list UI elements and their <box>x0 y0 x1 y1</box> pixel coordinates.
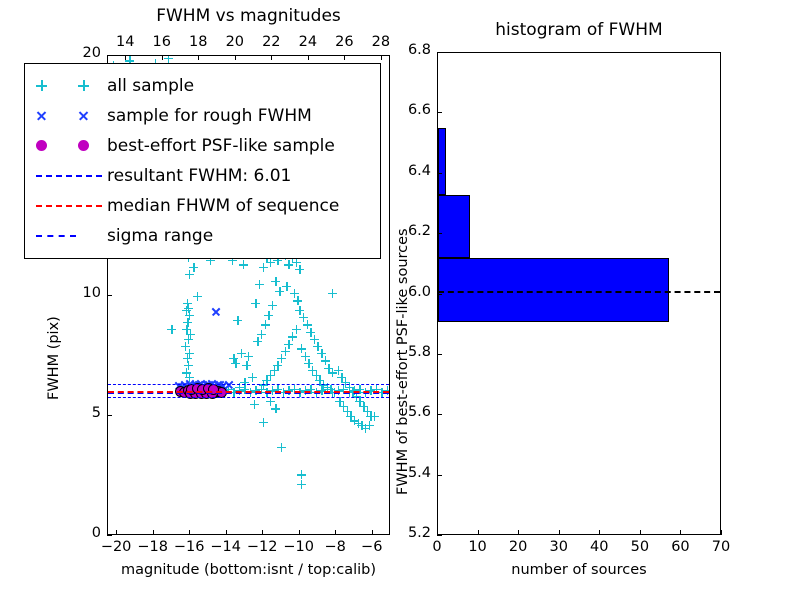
data-point <box>301 352 310 361</box>
legend-item-rough-sample: sample for rough FWHM <box>33 101 370 131</box>
data-point <box>268 386 277 395</box>
data-point <box>341 378 350 387</box>
data-point <box>251 386 260 395</box>
data-point <box>183 354 192 363</box>
data-point <box>304 359 313 368</box>
data-point <box>323 383 332 392</box>
data-point <box>366 412 375 421</box>
axis-tick-label: 6.8 <box>395 42 431 58</box>
right-data-layer <box>438 53 720 534</box>
axis-tick <box>437 535 442 536</box>
axis-tick-label: 50 <box>624 539 656 555</box>
left-yaxis-label: FWHM (pix) <box>46 316 62 400</box>
data-point <box>196 379 206 389</box>
right-xaxis-label: number of sources <box>437 562 721 578</box>
data-point <box>229 388 238 397</box>
data-point <box>334 366 343 375</box>
axis-tick <box>437 475 442 476</box>
figure-canvas: FWHM vs magnitudes −20−18−16−14−12−10−8−… <box>0 0 800 600</box>
x-marker-icon <box>33 105 107 127</box>
dot-marker-icon <box>33 135 107 157</box>
legend-item-sigma-range: sigma range <box>33 221 370 251</box>
data-point <box>345 383 354 392</box>
data-point <box>317 386 326 395</box>
axis-tick-label: 18 <box>182 34 214 50</box>
data-point <box>262 388 271 397</box>
legend-item-all-sample: all sample <box>33 71 370 101</box>
data-point <box>270 366 279 375</box>
axis-tick <box>189 530 190 535</box>
data-point <box>350 416 359 425</box>
data-point <box>181 342 190 351</box>
data-point <box>196 388 207 399</box>
data-point <box>240 385 249 394</box>
data-point <box>197 388 206 397</box>
data-point <box>279 388 288 397</box>
data-point <box>208 385 217 394</box>
data-point <box>239 260 248 269</box>
data-point <box>266 397 275 406</box>
axis-tick-label: 70 <box>705 539 737 555</box>
axis-tick <box>599 530 600 535</box>
sigma-lower-line <box>108 397 389 398</box>
data-point <box>370 412 379 421</box>
data-point <box>319 380 328 389</box>
axis-tick-label: 22 <box>255 34 287 50</box>
data-point <box>297 344 306 353</box>
data-point <box>301 386 310 395</box>
data-point <box>202 386 211 395</box>
legend-label: resultant FWHM: 6.01 <box>107 166 291 186</box>
data-point <box>297 470 306 479</box>
legend-item-median-fwhm: median FHWM of sequence <box>33 191 370 221</box>
data-point <box>268 301 277 310</box>
axis-tick-label: 5.2 <box>395 525 431 541</box>
data-point <box>253 337 262 346</box>
data-point <box>264 311 273 320</box>
data-point <box>240 378 249 387</box>
data-point <box>250 400 259 409</box>
data-point <box>348 388 357 397</box>
legend-label: median FHWM of sequence <box>107 196 339 216</box>
data-point <box>277 354 286 363</box>
data-point <box>290 385 299 394</box>
data-point <box>237 349 246 358</box>
data-point <box>335 397 344 406</box>
data-point <box>180 385 189 394</box>
data-point <box>185 349 194 358</box>
data-point <box>281 347 290 356</box>
data-point <box>184 304 193 313</box>
axis-tick <box>559 530 560 535</box>
data-point <box>186 387 197 398</box>
data-point <box>231 359 240 368</box>
histogram-bar <box>438 258 669 321</box>
axis-tick <box>116 530 117 535</box>
axis-tick-label: 6.6 <box>395 102 431 118</box>
data-point <box>261 320 270 329</box>
data-point <box>310 335 319 344</box>
axis-tick <box>721 530 722 535</box>
data-point <box>328 289 337 298</box>
data-point <box>233 316 242 325</box>
dashed-red-line-icon <box>33 195 107 217</box>
data-point <box>213 388 222 397</box>
data-point <box>208 384 219 395</box>
axis-tick <box>518 530 519 535</box>
data-point <box>308 366 317 375</box>
data-point <box>177 382 187 392</box>
data-point <box>292 325 301 334</box>
data-point <box>175 386 186 397</box>
data-point <box>275 287 284 296</box>
data-point <box>182 306 191 315</box>
data-point <box>185 379 195 389</box>
data-point <box>293 296 302 305</box>
data-point <box>190 388 201 399</box>
axis-tick-label: 30 <box>543 539 575 555</box>
axis-tick <box>262 530 263 535</box>
axis-tick <box>271 55 272 60</box>
data-point <box>297 480 306 489</box>
data-point <box>191 380 201 390</box>
data-point <box>201 388 212 399</box>
data-point <box>191 386 202 397</box>
data-point <box>242 361 251 370</box>
axis-tick-label: −18 <box>137 539 169 555</box>
data-point <box>292 258 301 267</box>
data-point <box>197 384 208 395</box>
axis-tick <box>437 52 442 53</box>
data-point <box>266 258 275 267</box>
axis-tick-label: −20 <box>100 539 132 555</box>
data-point <box>194 387 205 398</box>
axis-tick <box>437 294 442 295</box>
axis-tick <box>162 55 163 60</box>
axis-tick-label: 6.4 <box>395 163 431 179</box>
axis-tick-label: −14 <box>210 539 242 555</box>
axis-tick-label: 24 <box>292 34 324 50</box>
data-point <box>244 352 253 361</box>
axis-tick-label: 16 <box>146 34 178 50</box>
data-point <box>355 385 364 394</box>
axis-tick <box>107 295 112 296</box>
data-point <box>186 380 196 390</box>
axis-tick-label: −12 <box>246 539 278 555</box>
data-point <box>229 354 238 363</box>
data-point <box>207 379 217 389</box>
axis-tick-label: −6 <box>356 539 388 555</box>
data-point <box>359 402 368 411</box>
axis-tick-label: 20 <box>502 539 534 555</box>
axis-tick-label: 20 <box>219 34 251 50</box>
data-point <box>321 356 330 365</box>
data-point <box>174 381 184 391</box>
axis-tick <box>235 55 236 60</box>
data-point <box>180 380 190 390</box>
histogram-bar <box>438 195 470 258</box>
data-point <box>372 385 381 394</box>
data-point <box>339 402 348 411</box>
data-point <box>306 385 315 394</box>
data-point <box>218 381 228 391</box>
data-point <box>273 385 282 394</box>
axis-tick <box>478 530 479 535</box>
axis-tick <box>335 530 336 535</box>
data-point <box>295 306 304 315</box>
data-point <box>346 412 355 421</box>
legend-label: sample for rough FWHM <box>107 106 312 126</box>
data-point <box>192 383 203 394</box>
legend-item-psf-sample: best-effort PSF-like sample <box>33 131 370 161</box>
data-point <box>350 386 359 395</box>
sigma-upper-line <box>108 384 389 385</box>
data-point <box>194 380 204 390</box>
axis-tick <box>299 530 300 535</box>
data-point <box>361 388 370 397</box>
axis-tick-label: 20 <box>67 45 101 61</box>
data-point <box>191 385 200 394</box>
data-point <box>183 318 192 327</box>
data-point <box>337 373 346 382</box>
data-point <box>199 387 210 398</box>
data-point <box>383 386 389 395</box>
data-point <box>184 335 193 344</box>
data-point <box>303 320 312 329</box>
data-point <box>328 368 337 377</box>
data-point <box>271 277 280 286</box>
data-point <box>273 361 282 370</box>
axis-tick <box>437 112 442 113</box>
histogram-bar <box>438 128 446 194</box>
data-point <box>184 361 193 370</box>
axis-tick <box>226 530 227 535</box>
data-point <box>284 260 293 269</box>
data-point <box>277 443 286 452</box>
data-point <box>284 386 293 395</box>
data-point <box>259 380 268 389</box>
data-point <box>183 299 192 308</box>
axis-tick-label: −8 <box>319 539 351 555</box>
data-point <box>211 307 221 317</box>
data-point <box>312 371 321 380</box>
data-point <box>355 397 364 406</box>
data-point <box>185 373 194 382</box>
axis-tick <box>437 233 442 234</box>
data-point <box>179 387 190 398</box>
data-point <box>365 421 374 430</box>
data-point <box>334 386 343 395</box>
data-point <box>186 386 195 395</box>
data-point <box>299 313 308 322</box>
data-point <box>352 392 361 401</box>
data-point <box>317 349 326 358</box>
axis-tick-label: 28 <box>365 34 397 50</box>
left-xaxis-label: magnitude (bottom:isnt / top:calib) <box>107 562 390 578</box>
data-point <box>205 387 216 398</box>
data-point <box>266 371 275 380</box>
axis-tick <box>437 173 442 174</box>
data-point <box>185 388 196 399</box>
data-point <box>246 388 255 397</box>
data-point <box>357 421 366 430</box>
data-point <box>313 342 322 351</box>
data-point <box>282 282 291 291</box>
right-yaxis-label: FWHM of best-effort PSF-like sources <box>395 228 411 495</box>
median-fwhm-line <box>108 391 389 393</box>
data-point <box>328 388 337 397</box>
axis-tick-label: 0 <box>421 539 453 555</box>
axis-tick <box>153 530 154 535</box>
data-point <box>257 385 266 394</box>
data-point <box>197 385 208 396</box>
data-point <box>235 386 244 395</box>
right-histogram-axes <box>437 52 721 535</box>
axis-tick <box>107 55 112 56</box>
data-point <box>259 263 268 272</box>
data-point <box>207 385 218 396</box>
data-point <box>339 385 348 394</box>
data-point <box>255 280 264 289</box>
legend-label: all sample <box>107 76 194 96</box>
data-point <box>193 292 202 301</box>
data-point <box>330 388 339 397</box>
axis-tick-label: 60 <box>664 539 696 555</box>
data-point <box>366 386 375 395</box>
axis-tick-label: −10 <box>283 539 315 555</box>
axis-tick-label: 26 <box>328 34 360 50</box>
data-point <box>189 263 198 272</box>
axis-tick <box>308 55 309 60</box>
data-point <box>361 424 370 433</box>
data-point <box>315 376 324 385</box>
data-point <box>182 368 191 377</box>
axis-tick-label: 5 <box>67 405 101 421</box>
data-point <box>251 299 260 308</box>
axis-tick <box>680 530 681 535</box>
axis-tick <box>381 55 382 60</box>
legend-label: best-effort PSF-like sample <box>107 136 335 156</box>
plus-marker-icon <box>33 75 107 97</box>
data-point <box>257 330 266 339</box>
data-point <box>213 386 224 397</box>
legend-box: all sample sample for rough FWHM best-ef… <box>24 63 381 259</box>
data-point <box>216 387 227 398</box>
data-point <box>324 364 333 373</box>
data-point <box>224 385 233 394</box>
data-point <box>306 328 315 337</box>
data-point <box>363 407 372 416</box>
axis-tick <box>125 55 126 60</box>
data-point <box>202 380 212 390</box>
data-point <box>259 418 268 427</box>
right-plot-title: histogram of FWHM <box>437 20 721 40</box>
data-point <box>345 388 354 397</box>
data-point <box>204 380 214 390</box>
axis-tick <box>640 530 641 535</box>
data-point <box>207 388 218 399</box>
dashdot-blue-line-icon <box>33 225 107 247</box>
data-point <box>202 386 213 397</box>
axis-tick-label: 40 <box>583 539 615 555</box>
data-point <box>177 384 186 393</box>
axis-tick-label: 14 <box>109 34 141 50</box>
left-plot-title: FWHM vs magnitudes <box>107 6 390 26</box>
axis-tick <box>437 414 442 415</box>
data-point <box>295 388 304 397</box>
data-point <box>271 404 280 413</box>
data-point <box>343 407 352 416</box>
data-point <box>248 373 257 382</box>
data-point <box>185 311 194 320</box>
axis-tick-label: 10 <box>462 539 494 555</box>
data-point <box>284 340 293 349</box>
data-point <box>210 387 221 398</box>
axis-tick-label: 10 <box>67 285 101 301</box>
data-point <box>182 325 191 334</box>
data-point <box>235 383 244 392</box>
data-point <box>213 380 223 390</box>
resultant-fwhm-line <box>108 392 389 394</box>
legend-label: sigma range <box>107 226 213 246</box>
data-point <box>219 386 228 395</box>
data-point <box>312 388 321 397</box>
axis-tick <box>437 354 442 355</box>
data-point <box>167 325 176 334</box>
data-point <box>203 383 214 394</box>
axis-tick-label: −16 <box>173 539 205 555</box>
data-point <box>288 332 297 341</box>
data-point <box>262 376 271 385</box>
data-point <box>164 56 173 63</box>
axis-tick <box>198 55 199 60</box>
axis-tick <box>344 55 345 60</box>
axis-tick <box>107 535 112 536</box>
data-point <box>188 385 199 396</box>
data-point <box>295 265 304 274</box>
axis-tick-label: 0 <box>67 525 101 541</box>
data-point <box>185 270 194 279</box>
data-point <box>186 330 195 339</box>
data-point <box>323 385 332 394</box>
histogram-median-line <box>438 291 720 293</box>
data-point <box>354 419 363 428</box>
data-point <box>326 385 335 394</box>
data-point <box>290 289 299 298</box>
legend-item-resultant-fwhm: resultant FWHM: 6.01 <box>33 161 370 191</box>
dashed-blue-line-icon <box>33 165 107 187</box>
data-point <box>186 384 197 395</box>
data-point <box>183 385 194 396</box>
axis-tick <box>372 530 373 535</box>
data-point <box>215 380 225 390</box>
data-point <box>377 388 386 397</box>
data-point <box>224 380 234 390</box>
axis-tick <box>107 415 112 416</box>
